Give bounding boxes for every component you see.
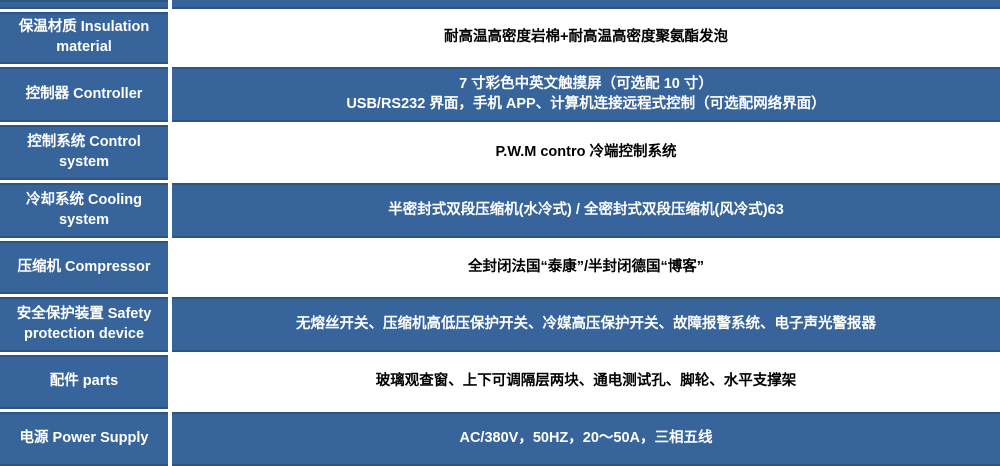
row-label-safety-protection-device: 安全保护装置 Safety protection device (0, 297, 168, 352)
row-label-text: 控制器 Controller (26, 85, 143, 105)
row-label-text: 控制系统 Control system (4, 133, 164, 172)
row-value-text: 耐高温高密度岩棉+耐高温高密度聚氨酯发泡 (444, 28, 728, 48)
table-row: 保温材质 Insulation material 耐高温高密度岩棉+耐高温高密度… (0, 9, 1000, 64)
specification-table: 保温材质 Insulation material 耐高温高密度岩棉+耐高温高密度… (0, 0, 1000, 466)
partial-row-value-cell (172, 0, 1000, 9)
row-label-control-system: 控制系统 Control system (0, 125, 168, 180)
row-value-insulation-material: 耐高温高密度岩棉+耐高温高密度聚氨酯发泡 (172, 12, 1000, 64)
row-value-text: 半密封式双段压缩机(水冷式) / 全密封式双段压缩机(风冷式)63 (388, 201, 784, 221)
row-value-text: 玻璃观查窗、上下可调隔层两块、通电测试孔、脚轮、水平支撑架 (376, 372, 797, 392)
row-label-compressor: 压缩机 Compressor (0, 241, 168, 294)
table-row: 安全保护装置 Safety protection device 无熔丝开关、压缩… (0, 294, 1000, 352)
row-label-insulation-material: 保温材质 Insulation material (0, 12, 168, 64)
row-value-parts: 玻璃观查窗、上下可调隔层两块、通电测试孔、脚轮、水平支撑架 (172, 355, 1000, 409)
row-value-text: 7 寸彩色中英文触摸屏（可选配 10 寸） USB/RS232 界面，手机 AP… (346, 75, 825, 114)
row-value-compressor: 全封闭法国“泰康”/半封闭德国“博客” (172, 241, 1000, 294)
row-label-text: 压缩机 Compressor (18, 258, 151, 278)
row-label-text: 配件 parts (50, 372, 119, 392)
table-row: 控制器 Controller 7 寸彩色中英文触摸屏（可选配 10 寸） USB… (0, 64, 1000, 122)
row-value-text: 全封闭法国“泰康”/半封闭德国“博客” (468, 258, 704, 278)
row-label-parts: 配件 parts (0, 355, 168, 409)
row-label-text: 冷却系统 Cooling system (4, 191, 164, 230)
table-row: 压缩机 Compressor 全封闭法国“泰康”/半封闭德国“博客” (0, 238, 1000, 294)
table-row: 控制系统 Control system P.W.M contro 冷端控制系统 (0, 122, 1000, 180)
table-row: 电源 Power Supply AC/380V，50HZ，20～50A，三相五线 (0, 409, 1000, 466)
row-value-power-supply: AC/380V，50HZ，20～50A，三相五线 (172, 412, 1000, 466)
table-row: 冷却系统 Cooling system 半密封式双段压缩机(水冷式) / 全密封… (0, 180, 1000, 238)
row-label-text: 安全保护装置 Safety protection device (4, 305, 164, 344)
row-label-power-supply: 电源 Power Supply (0, 412, 168, 466)
row-value-controller: 7 寸彩色中英文触摸屏（可选配 10 寸） USB/RS232 界面，手机 AP… (172, 67, 1000, 122)
row-value-text: P.W.M contro 冷端控制系统 (496, 143, 677, 163)
row-value-text: 无熔丝开关、压缩机高低压保护开关、冷媒高压保护开关、故障报警系统、电子声光警报器 (296, 315, 876, 335)
row-value-cooling-system: 半密封式双段压缩机(水冷式) / 全密封式双段压缩机(风冷式)63 (172, 183, 1000, 238)
table-row: 配件 parts 玻璃观查窗、上下可调隔层两块、通电测试孔、脚轮、水平支撑架 (0, 352, 1000, 409)
row-label-cooling-system: 冷却系统 Cooling system (0, 183, 168, 238)
row-value-safety-protection-device: 无熔丝开关、压缩机高低压保护开关、冷媒高压保护开关、故障报警系统、电子声光警报器 (172, 297, 1000, 352)
row-label-text: 保温材质 Insulation material (4, 18, 164, 57)
row-value-control-system: P.W.M contro 冷端控制系统 (172, 125, 1000, 180)
partial-row-label-cell (0, 0, 168, 9)
row-value-text: AC/380V，50HZ，20～50A，三相五线 (459, 429, 712, 449)
row-label-text: 电源 Power Supply (20, 429, 149, 449)
row-label-controller: 控制器 Controller (0, 67, 168, 122)
table-row-partial-top (0, 0, 1000, 9)
